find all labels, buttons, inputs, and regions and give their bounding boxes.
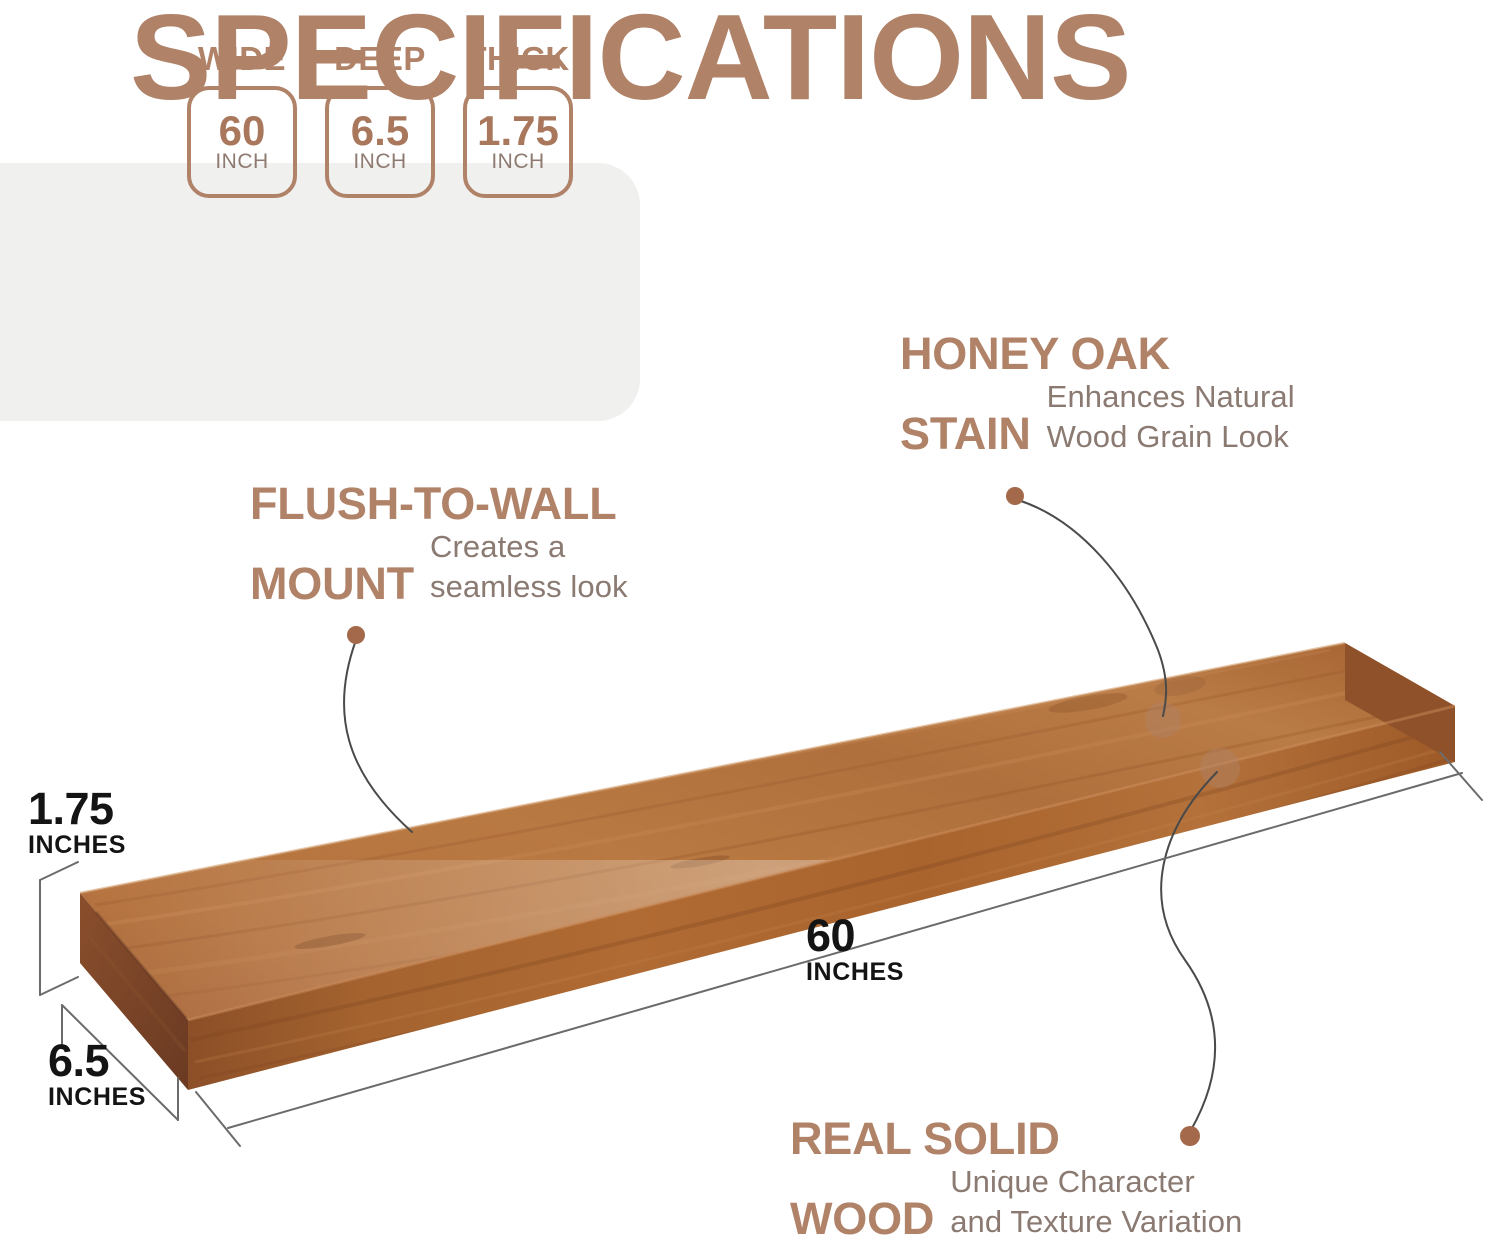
callout-honey-subtitle: Enhances Natural Wood Grain Look [1047,378,1295,458]
callout-honey-title-line2: STAIN [900,410,1031,458]
specifications-infographic: SPECIFICATIONS WIDE 60 INCH DEEP 6.5 INC… [0,0,1500,1258]
callout-flush-title-line2: MOUNT [250,560,414,608]
dimension-value-depth: 6.5 [48,1040,146,1083]
callout-flush-title-line1: FLUSH-TO-WALL [250,480,628,528]
callout-honey-sub-line1: Enhances Natural [1047,378,1295,418]
callout-flush-to-wall-mount: FLUSH-TO-WALL MOUNT Creates a seamless l… [250,480,628,607]
marker-honey-oak-stain [1145,702,1181,738]
dimension-value-width: 60 [806,915,904,958]
callout-flush-subtitle: Creates a seamless look [430,528,628,608]
dimension-label-width: 60 INCHES [806,915,904,987]
callout-flush-line2: MOUNT Creates a seamless look [250,528,628,608]
callout-honey-title-line1: HONEY OAK [900,330,1295,378]
callout-flush-sub-line2: seamless look [430,568,628,608]
dimension-label-thickness: 1.75 INCHES [28,788,126,860]
callout-wood-title-line1: REAL SOLID [790,1115,1242,1163]
dimension-unit-depth: INCHES [48,1083,146,1112]
callout-honey-sub-line2: Wood Grain Look [1047,418,1295,458]
callout-wood-subtitle: Unique Character and Texture Variation [950,1163,1242,1243]
marker-real-solid-wood [1200,748,1240,788]
dimension-unit-thickness: INCHES [28,831,126,860]
callout-honey-oak-stain: HONEY OAK STAIN Enhances Natural Wood Gr… [900,330,1295,457]
dimension-unit-width: INCHES [806,958,904,987]
callout-wood-sub-line1: Unique Character [950,1163,1242,1203]
callout-flush-sub-line1: Creates a [430,528,628,568]
callout-wood-title-line2: WOOD [790,1195,934,1243]
dimension-value-thickness: 1.75 [28,788,126,831]
dimension-label-depth: 6.5 INCHES [48,1040,146,1112]
product-illustration [0,0,1500,1258]
callout-wood-sub-line2: and Texture Variation [950,1203,1242,1243]
callout-wood-line2: WOOD Unique Character and Texture Variat… [790,1163,1242,1243]
callout-real-solid-wood: REAL SOLID WOOD Unique Character and Tex… [790,1115,1242,1242]
callout-honey-line2: STAIN Enhances Natural Wood Grain Look [900,378,1295,458]
